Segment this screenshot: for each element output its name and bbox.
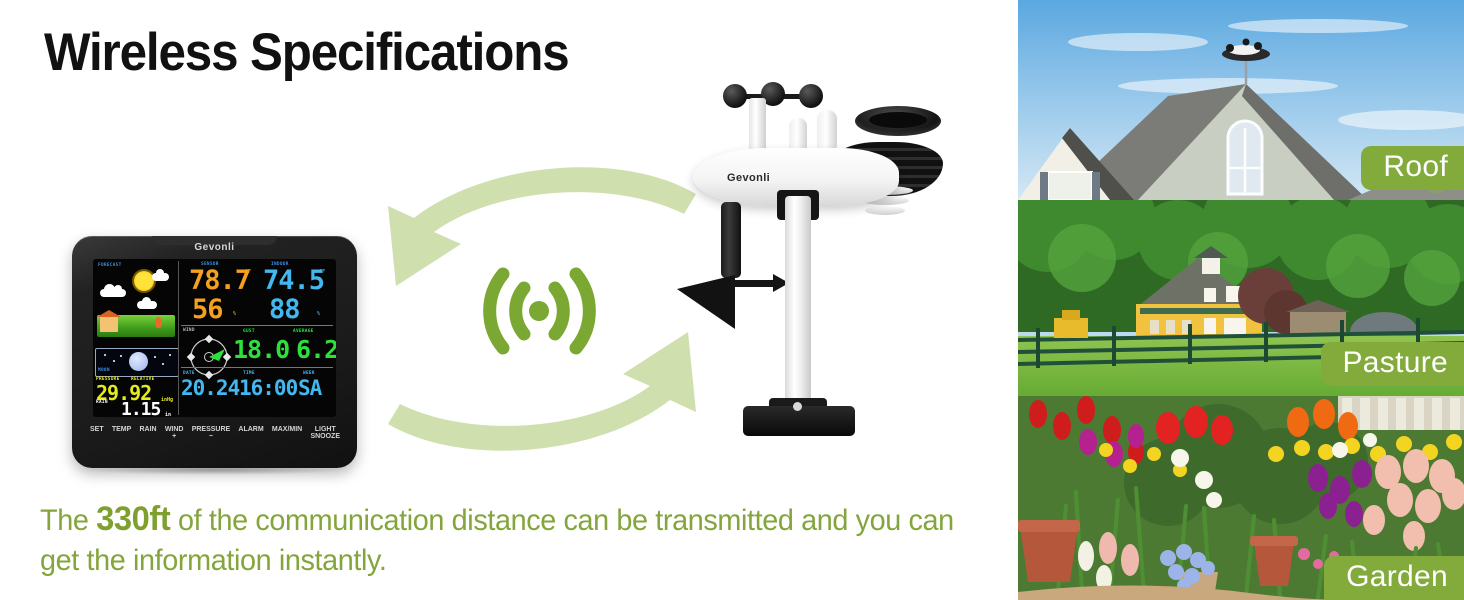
wind-vane-shaft [721,202,741,278]
average-label: AVERAGE [293,329,314,334]
sun-icon [134,271,154,291]
moon-label: MOON [98,368,110,373]
console-button-row: SET TEMP RAIN WIND + PRESSURE − [90,426,340,458]
star-icon [104,354,106,356]
gust-label: GUST [243,329,255,334]
average-value: 6.2 [296,335,336,364]
week-value: SA [298,376,321,400]
lcd-divider [181,325,333,326]
anemometer-cups [723,82,823,112]
indoor-humidity-value: 88 [269,294,300,325]
console-lcd-screen: FORECAST [93,259,336,417]
star-icon [169,354,171,356]
lcd-vertical-divider [178,261,179,415]
star-icon [162,363,164,365]
anemometer-cup [723,84,747,108]
rain-unit: in [165,412,171,417]
button-pressure-minus[interactable]: PRESSURE − [192,426,231,440]
forecast-label: FORECAST [98,263,122,268]
button-set-label: SET [90,426,104,433]
anemometer-mast [749,98,766,152]
photo-pasture: Pasture [1018,200,1464,396]
house-icon [100,316,118,332]
indoor-temperature-value: 74.5 [263,265,324,296]
rain-label: RAIN [96,400,108,405]
cloud-icon [137,301,157,309]
caption-distance-highlight: 330ft [96,500,170,538]
button-wind-sublabel: + [165,433,184,440]
button-temp[interactable]: TEMP [112,426,131,433]
indoor-temperature-unit: °F [319,269,325,275]
date-value: 20.24 [181,376,239,400]
sensor-temperature-value: 78.7 [189,265,250,296]
caption-lead: The [40,504,96,537]
lcd-divider [181,367,333,368]
photo-roof: Roof [1018,0,1464,200]
gust-value: 18.0 [233,335,289,364]
signal-center-dot [529,301,549,321]
outdoor-sensor-unit: Gevonli [665,62,955,472]
rain-gauge-aperture [869,112,927,128]
moon-icon [129,352,148,371]
sensor-brand-label: Gevonli [727,172,770,184]
button-max-min[interactable]: MAX/MIN [272,426,302,433]
sensor-humidity-unit: % [233,311,236,317]
button-rain[interactable]: RAIN [139,426,156,433]
left-content-pane: Wireless Specifications Gevonli FORECAST [0,0,1018,600]
moon-phase-panel: MOON [95,348,179,377]
button-wind-plus[interactable]: WIND + [165,426,184,440]
button-set[interactable]: SET [90,426,104,433]
button-light-snooze[interactable]: LIGHT SNOOZE [310,426,340,440]
star-icon [120,355,122,357]
button-max-min-label: MAX/MIN [272,426,302,433]
arrow-right-icon [388,332,696,451]
page-title: Wireless Specifications [44,22,569,83]
console-brand-label: Gevonli [72,242,357,253]
indoor-humidity-unit: % [317,311,320,317]
button-alarm[interactable]: ALARM [238,426,263,433]
star-icon [113,360,115,362]
button-rain-label: RAIN [139,426,156,433]
sensor-humidity-value: 56 [192,294,223,325]
wind-vane-tail [731,280,779,287]
button-alarm-label: ALARM [238,426,263,433]
photo-pasture-tag: Pasture [1321,342,1464,387]
caption-text: The 330ft of the communication distance … [40,498,962,580]
anemometer-cup [799,84,823,108]
sensor-temperature-unit: °F [245,269,251,275]
cloud-icon [100,289,126,297]
button-wind-label: WIND [165,426,184,433]
photo-roof-tag: Roof [1361,146,1464,191]
tree-icon [155,317,162,328]
rain-value: 1.15 [121,399,160,417]
button-temp-label: TEMP [112,426,131,433]
base-screw [793,402,802,411]
star-icon [154,356,156,358]
button-pressure-sublabel: − [192,433,231,440]
photo-garden-tag: Garden [1324,556,1464,600]
button-snooze-label: SNOOZE [310,433,340,440]
arrow-left-icon [388,167,696,286]
photo-garden: Garden [1018,396,1464,600]
weather-station-console: Gevonli FORECAST [72,236,357,468]
wind-vane-fin [677,275,735,329]
wireless-specifications-banner: Wireless Specifications Gevonli FORECAST [0,0,1464,600]
photo-strip: Roof [1018,0,1464,600]
caption-rest: of the communication distance can be tra… [40,504,954,577]
mounting-pole [785,196,811,412]
button-pressure-label: PRESSURE [192,426,231,433]
button-light-label: LIGHT [310,426,340,433]
radiation-shield-plate [865,206,905,215]
pressure-unit: inHg [161,397,173,403]
cloud-icon [152,273,169,281]
time-value: 16:00 [239,376,297,400]
forecast-panel: FORECAST [95,261,177,351]
